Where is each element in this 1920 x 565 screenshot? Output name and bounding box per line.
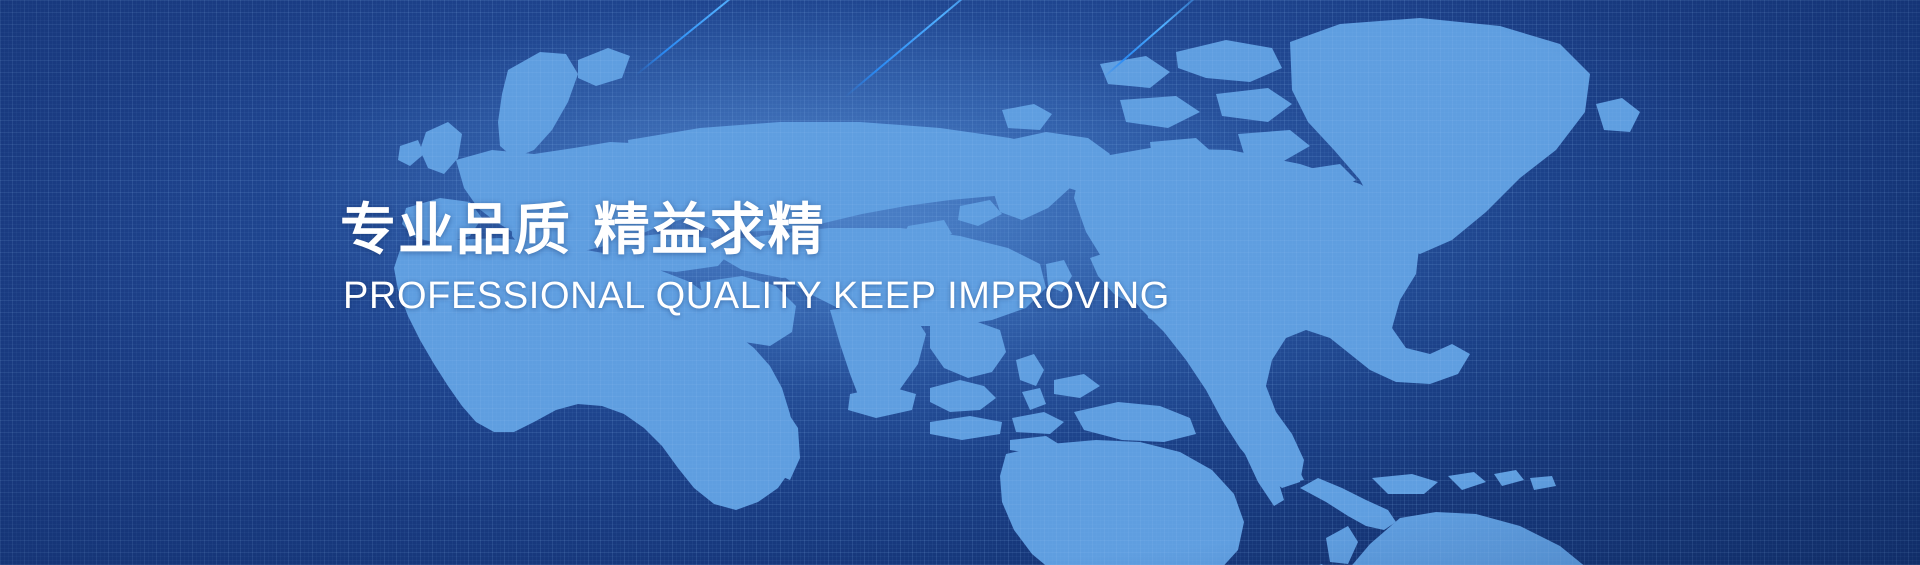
- headline-chinese: 专业品质 精益求精: [340, 198, 1170, 264]
- headline-english: PROFESSIONAL QUALITY KEEP IMPROVING: [343, 276, 1170, 318]
- promotional-banner: 专业品质 精益求精 PROFESSIONAL QUALITY KEEP IMPR…: [0, 0, 1920, 565]
- headline-block: 专业品质 精益求精 PROFESSIONAL QUALITY KEEP IMPR…: [340, 198, 1170, 318]
